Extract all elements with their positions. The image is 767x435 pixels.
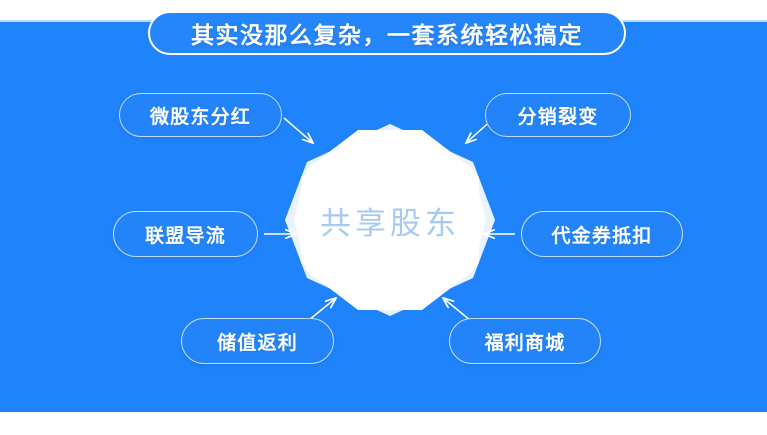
node-voucher-deduction[interactable]: 代金券抵扣: [521, 211, 683, 257]
node-micro-shareholder-dividend[interactable]: 微股东分红: [119, 93, 282, 137]
node-stored-value-rebate[interactable]: 储值返利: [181, 318, 334, 364]
node-label: 联盟导流: [145, 221, 226, 248]
node-label: 储值返利: [217, 328, 298, 355]
node-welfare-mall[interactable]: 福利商城: [449, 318, 601, 364]
center-emblem: 共享股东: [283, 122, 497, 318]
slide-canvas: 其实没那么复杂，一套系统轻松搞定: [0, 0, 767, 435]
octagon-core: [301, 134, 479, 306]
page-title: 其实没那么复杂，一套系统轻松搞定: [191, 16, 583, 50]
node-alliance-traffic[interactable]: 联盟导流: [113, 211, 258, 257]
node-label: 微股东分红: [150, 102, 251, 129]
node-label: 代金券抵扣: [551, 221, 652, 248]
node-distribution-fission[interactable]: 分销裂变: [485, 93, 631, 137]
slide-title-banner: 其实没那么复杂，一套系统轻松搞定: [148, 11, 626, 55]
node-label: 福利商城: [485, 328, 566, 355]
node-label: 分销裂变: [518, 102, 599, 129]
